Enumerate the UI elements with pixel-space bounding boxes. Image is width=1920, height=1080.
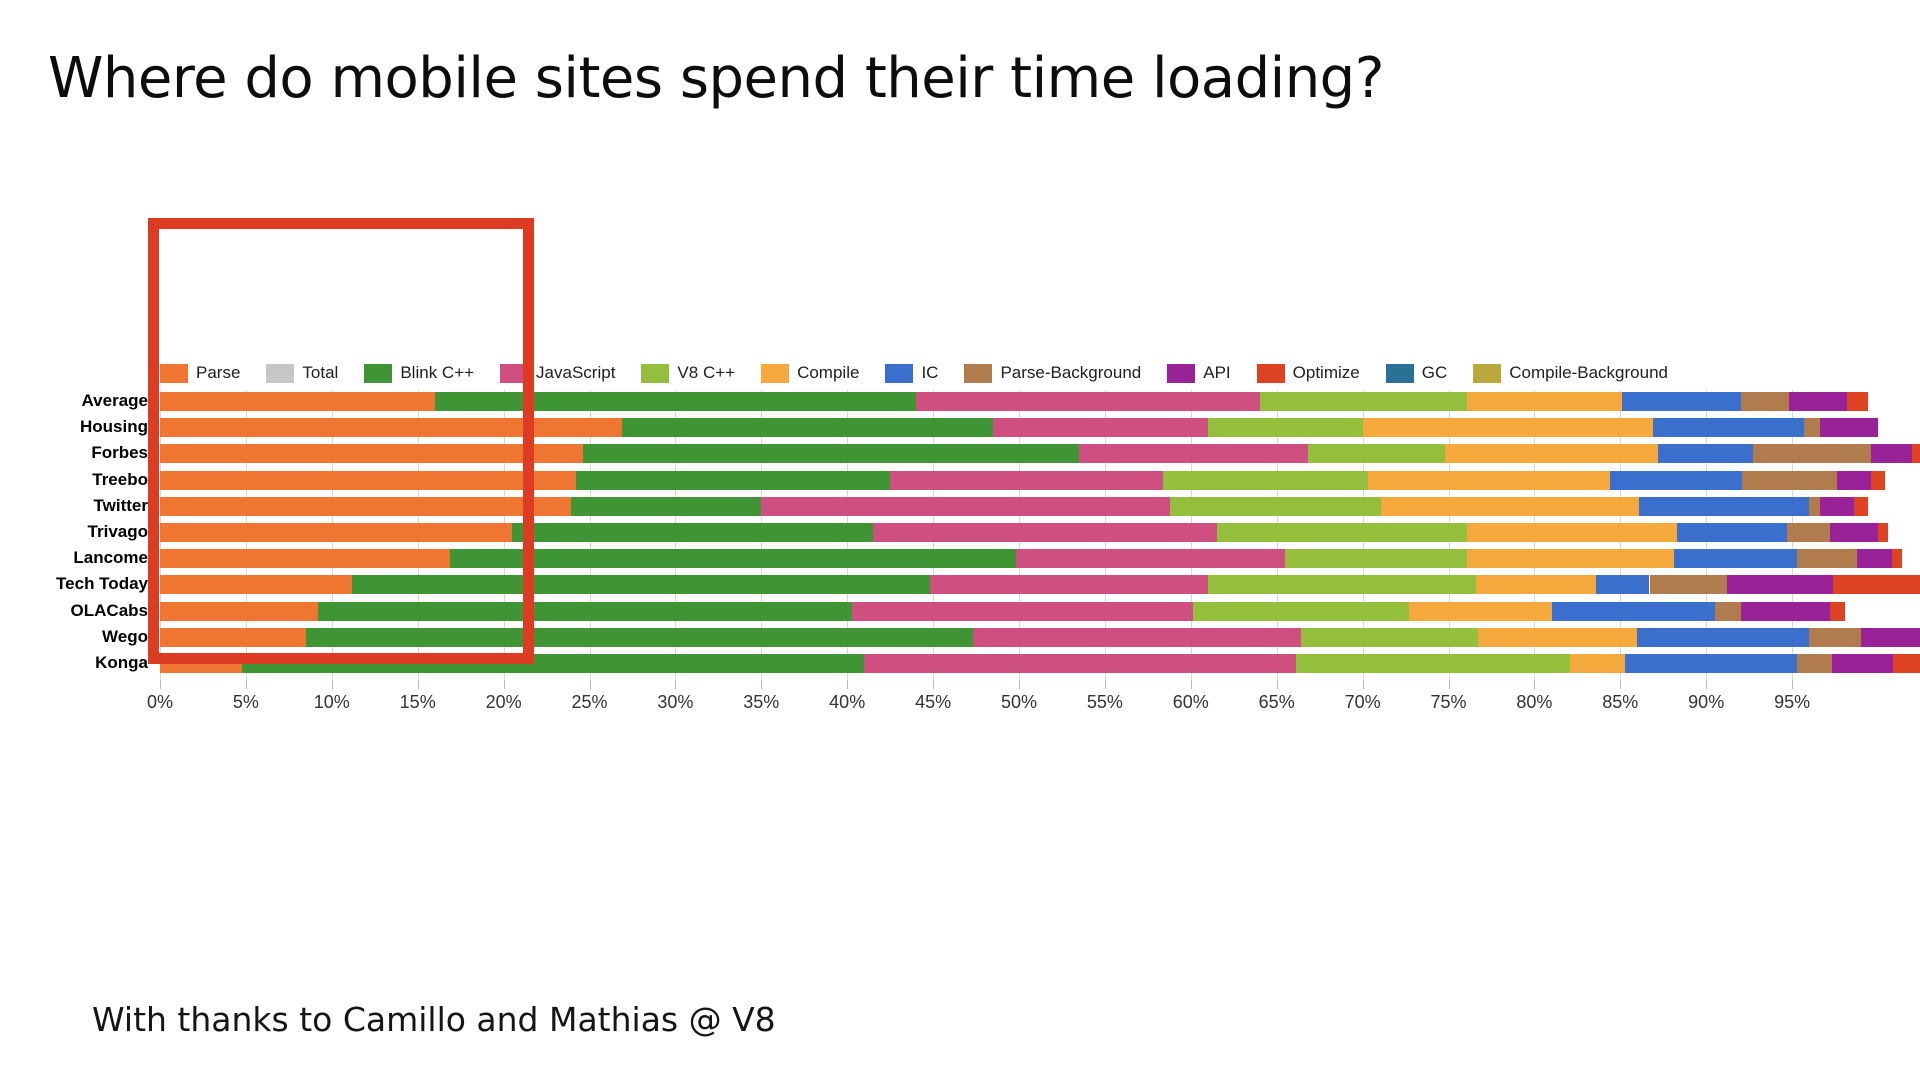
page-title: Where do mobile sites spend their time l… — [48, 46, 1384, 111]
legend-item-parse-background[interactable]: Parse-Background — [964, 363, 1141, 383]
x-axis-tick-label: 70% — [1345, 692, 1381, 713]
legend-label: GC — [1422, 363, 1448, 383]
bar-segment-optimize[interactable] — [1854, 497, 1868, 516]
x-axis-tick-label: 80% — [1516, 692, 1552, 713]
bar-segment-ic[interactable] — [1658, 444, 1752, 463]
bar-segment-parse[interactable] — [160, 392, 435, 411]
legend-item-v8-c-[interactable]: V8 C++ — [641, 363, 735, 383]
bar-segment-parse-background[interactable] — [1741, 392, 1789, 411]
bar-segment-v8-c-[interactable] — [1301, 628, 1478, 647]
bar-segment-compile[interactable] — [1570, 654, 1625, 673]
x-axis-tick — [160, 680, 161, 689]
bar-segment-javascript[interactable] — [993, 418, 1208, 437]
x-axis-tick-label: 20% — [486, 692, 522, 713]
bar-segment-api[interactable] — [1857, 549, 1891, 568]
chart-legend: ParseTotalBlink C++JavaScriptV8 C++Compi… — [160, 360, 1694, 386]
x-axis-tick — [332, 680, 333, 689]
x-axis-tick-label: 40% — [829, 692, 865, 713]
bar-segment-v8-c-[interactable] — [1285, 549, 1467, 568]
y-axis-label-olacabs: OLACabs — [71, 601, 148, 621]
bar-segment-blink-c-[interactable] — [450, 549, 1015, 568]
x-axis-tick — [1534, 680, 1535, 689]
legend-swatch-icon — [364, 364, 392, 383]
bar-segment-api[interactable] — [1830, 523, 1878, 542]
bar-segment-ic[interactable] — [1674, 549, 1798, 568]
y-axis-label-forbes: Forbes — [91, 443, 148, 463]
legend-swatch-icon — [160, 364, 188, 383]
bar-segment-javascript[interactable] — [1016, 549, 1286, 568]
bar-segment-compile[interactable] — [1467, 392, 1622, 411]
legend-item-blink-c-[interactable]: Blink C++ — [364, 363, 474, 383]
bar-segment-javascript[interactable] — [864, 654, 1295, 673]
y-axis-label-treebo: Treebo — [92, 470, 148, 490]
bar-segment-javascript[interactable] — [890, 471, 1163, 490]
bar-row: Wego — [160, 628, 1878, 647]
x-axis-tick — [933, 680, 934, 689]
y-axis-label-tech-today: Tech Today — [56, 574, 148, 594]
bar-segment-compile[interactable] — [1445, 444, 1658, 463]
bar-row: OLACabs — [160, 602, 1878, 621]
bar-segment-parse-background[interactable] — [1797, 654, 1831, 673]
legend-label: Parse-Background — [1000, 363, 1141, 383]
x-axis-tick — [1620, 680, 1621, 689]
bar-segment-ic[interactable] — [1610, 471, 1742, 490]
legend-label: Blink C++ — [400, 363, 474, 383]
bar-segment-javascript[interactable] — [973, 628, 1301, 647]
x-axis-tick — [1019, 680, 1020, 689]
bar-segment-parse[interactable] — [160, 575, 352, 594]
bar-segment-blink-c-[interactable] — [242, 654, 864, 673]
x-axis-tick — [1792, 680, 1793, 689]
y-axis-label-trivago: Trivago — [88, 522, 148, 542]
x-axis-tick — [246, 680, 247, 689]
bar-segment-blink-c-[interactable] — [306, 628, 973, 647]
bar-segment-optimize[interactable] — [1912, 444, 1920, 463]
bar-row: Housing — [160, 418, 1878, 437]
x-axis-tick-label: 90% — [1688, 692, 1724, 713]
bar-segment-api[interactable] — [1741, 602, 1830, 621]
legend-label: JavaScript — [536, 363, 615, 383]
x-axis-tick — [1449, 680, 1450, 689]
bar-segment-ic[interactable] — [1639, 497, 1809, 516]
x-axis-tick-label: 30% — [657, 692, 693, 713]
x-axis-tick-label: 85% — [1602, 692, 1638, 713]
x-axis: 0%5%10%15%20%25%30%35%40%45%50%55%60%65%… — [160, 680, 1878, 720]
x-axis-tick-label: 15% — [400, 692, 436, 713]
plot-area: AverageHousingForbesTreeboTwitterTrivago… — [160, 390, 1878, 680]
bar-segment-optimize[interactable] — [1892, 549, 1902, 568]
bar-segment-parse-background[interactable] — [1804, 418, 1819, 437]
bar-segment-parse-background[interactable] — [1809, 628, 1861, 647]
bar-segment-api[interactable] — [1837, 471, 1871, 490]
bar-segment-api[interactable] — [1871, 444, 1912, 463]
legend-label: Total — [302, 363, 338, 383]
bar-segment-v8-c-[interactable] — [1260, 392, 1468, 411]
bar-segment-parse-background[interactable] — [1742, 471, 1836, 490]
bar-segment-ic[interactable] — [1653, 418, 1804, 437]
bar-segment-blink-c-[interactable] — [435, 392, 916, 411]
bar-segment-api[interactable] — [1832, 654, 1894, 673]
footer-credit: With thanks to Camillo and Mathias @ V8 — [92, 1000, 776, 1039]
bar-segment-parse[interactable] — [160, 471, 576, 490]
bar-segment-compile[interactable] — [1368, 471, 1610, 490]
legend-item-compile[interactable]: Compile — [761, 363, 859, 383]
y-axis-label-average: Average — [82, 391, 148, 411]
legend-item-total[interactable]: Total — [266, 363, 338, 383]
bar-segment-parse-background[interactable] — [1787, 523, 1830, 542]
bar-segment-parse[interactable] — [160, 523, 512, 542]
bar-segment-javascript[interactable] — [761, 497, 1170, 516]
x-axis-tick-label: 10% — [314, 692, 350, 713]
bar-segment-blink-c-[interactable] — [571, 497, 762, 516]
bar-segment-parse-background[interactable] — [1797, 549, 1857, 568]
legend-item-parse[interactable]: Parse — [160, 363, 240, 383]
x-axis-tick-label: 0% — [147, 692, 173, 713]
x-axis-tick — [1363, 680, 1364, 689]
bar-segment-ic[interactable] — [1596, 575, 1649, 594]
bar-segment-v8-c-[interactable] — [1217, 523, 1468, 542]
bar-segment-parse[interactable] — [160, 549, 450, 568]
bar-segment-parse-background[interactable] — [1753, 444, 1872, 463]
bar-segment-parse-background[interactable] — [1809, 497, 1819, 516]
x-axis-tick-label: 65% — [1259, 692, 1295, 713]
legend-swatch-icon — [1473, 364, 1501, 383]
bar-segment-ic[interactable] — [1677, 523, 1787, 542]
bar-segment-compile[interactable] — [1478, 628, 1638, 647]
bar-row: Trivago — [160, 523, 1878, 542]
x-axis-tick — [504, 680, 505, 689]
bar-segment-blink-c-[interactable] — [318, 602, 852, 621]
bar-segment-parse-background[interactable] — [1715, 602, 1741, 621]
x-axis-tick — [675, 680, 676, 689]
bar-row: Lancome — [160, 549, 1878, 568]
x-axis-tick — [761, 680, 762, 689]
bar-segment-api[interactable] — [1861, 628, 1920, 647]
bar-segment-v8-c-[interactable] — [1308, 444, 1445, 463]
bar-segment-parse[interactable] — [160, 602, 318, 621]
x-axis-tick-label: 35% — [743, 692, 779, 713]
bar-segment-optimize[interactable] — [1893, 654, 1920, 673]
bar-segment-compile[interactable] — [1476, 575, 1596, 594]
y-axis-label-lancome: Lancome — [73, 548, 148, 568]
legend-swatch-icon — [1257, 364, 1285, 383]
bar-segment-v8-c-[interactable] — [1163, 471, 1367, 490]
bar-segment-parse[interactable] — [160, 497, 571, 516]
legend-swatch-icon — [885, 364, 913, 383]
bar-row: Average — [160, 392, 1878, 411]
bar-segment-api[interactable] — [1789, 392, 1847, 411]
x-axis-tick-label: 95% — [1774, 692, 1810, 713]
bar-segment-compile[interactable] — [1381, 497, 1639, 516]
bar-row: Konga — [160, 654, 1878, 673]
bar-segment-javascript[interactable] — [1079, 444, 1307, 463]
legend-item-compile-background[interactable]: Compile-Background — [1473, 363, 1668, 383]
bar-segment-optimize[interactable] — [1830, 602, 1845, 621]
bar-segment-ic[interactable] — [1625, 654, 1797, 673]
x-axis-tick-label: 60% — [1173, 692, 1209, 713]
bar-segment-parse[interactable] — [160, 628, 306, 647]
legend-swatch-icon — [641, 364, 669, 383]
legend-swatch-icon — [1167, 364, 1195, 383]
bar-segment-optimize[interactable] — [1878, 523, 1888, 542]
bar-segment-ic[interactable] — [1622, 392, 1741, 411]
legend-label: IC — [921, 363, 938, 383]
bar-segment-blink-c-[interactable] — [352, 575, 929, 594]
legend-item-ic[interactable]: IC — [885, 363, 938, 383]
legend-swatch-icon — [761, 364, 789, 383]
bar-segment-blink-c-[interactable] — [622, 418, 993, 437]
legend-item-javascript[interactable]: JavaScript — [500, 363, 615, 383]
stacked-bar-chart: ParseTotalBlink C++JavaScriptV8 C++Compi… — [0, 255, 1920, 795]
x-axis-tick — [1105, 680, 1106, 689]
bar-segment-v8-c-[interactable] — [1208, 418, 1363, 437]
bar-segment-api[interactable] — [1820, 497, 1854, 516]
bar-segment-parse[interactable] — [160, 654, 242, 673]
x-axis-tick — [1191, 680, 1192, 689]
bar-segment-v8-c-[interactable] — [1193, 602, 1409, 621]
bar-segment-javascript[interactable] — [916, 392, 1260, 411]
legend-label: Parse — [196, 363, 240, 383]
bar-segment-blink-c-[interactable] — [583, 444, 1080, 463]
legend-label: Compile — [797, 363, 859, 383]
bar-segment-optimize[interactable] — [1833, 575, 1920, 594]
bar-segment-v8-c-[interactable] — [1296, 654, 1571, 673]
bar-segment-compile[interactable] — [1409, 602, 1552, 621]
x-axis-tick-label: 45% — [915, 692, 951, 713]
legend-item-api[interactable]: API — [1167, 363, 1230, 383]
x-axis-tick-label: 75% — [1430, 692, 1466, 713]
bar-segment-ic[interactable] — [1552, 602, 1715, 621]
legend-label: V8 C++ — [677, 363, 735, 383]
x-axis-tick-label: 5% — [233, 692, 259, 713]
bar-row: Tech Today — [160, 575, 1878, 594]
bar-segment-parse[interactable] — [160, 444, 583, 463]
bar-segment-api[interactable] — [1727, 575, 1834, 594]
y-axis-label-konga: Konga — [95, 653, 148, 673]
legend-swatch-icon — [266, 364, 294, 383]
bar-segment-compile[interactable] — [1467, 523, 1677, 542]
bar-segment-v8-c-[interactable] — [1170, 497, 1381, 516]
legend-label: Optimize — [1293, 363, 1360, 383]
bar-segment-v8-c-[interactable] — [1208, 575, 1476, 594]
legend-item-gc[interactable]: GC — [1386, 363, 1448, 383]
bar-segment-javascript[interactable] — [930, 575, 1208, 594]
bar-segment-javascript[interactable] — [852, 602, 1192, 621]
bar-segment-compile[interactable] — [1467, 549, 1673, 568]
x-axis-tick — [847, 680, 848, 689]
legend-swatch-icon — [500, 364, 528, 383]
x-axis-tick — [590, 680, 591, 689]
bar-segment-ic[interactable] — [1637, 628, 1809, 647]
x-axis-tick — [1277, 680, 1278, 689]
bar-row: Twitter — [160, 497, 1878, 516]
bar-segment-optimize[interactable] — [1871, 471, 1885, 490]
bar-segment-blink-c-[interactable] — [576, 471, 890, 490]
bar-segment-api[interactable] — [1820, 418, 1878, 437]
legend-item-optimize[interactable]: Optimize — [1257, 363, 1360, 383]
y-axis-label-twitter: Twitter — [94, 496, 148, 516]
bar-segment-parse[interactable] — [160, 418, 622, 437]
bar-segment-blink-c-[interactable] — [512, 523, 873, 542]
x-axis-tick-label: 25% — [571, 692, 607, 713]
legend-label: Compile-Background — [1509, 363, 1668, 383]
bar-segment-optimize[interactable] — [1847, 392, 1868, 411]
legend-swatch-icon — [964, 364, 992, 383]
x-axis-tick-label: 55% — [1087, 692, 1123, 713]
x-axis-tick-label: 50% — [1001, 692, 1037, 713]
bar-row: Treebo — [160, 471, 1878, 490]
x-axis-tick — [418, 680, 419, 689]
x-axis-tick — [1706, 680, 1707, 689]
y-axis-label-wego: Wego — [102, 627, 148, 647]
legend-swatch-icon — [1386, 364, 1414, 383]
legend-label: API — [1203, 363, 1230, 383]
bar-segment-parse-background[interactable] — [1650, 575, 1727, 594]
y-axis-label-housing: Housing — [80, 417, 148, 437]
bar-segment-compile[interactable] — [1363, 418, 1653, 437]
bar-row: Forbes — [160, 444, 1878, 463]
bar-segment-javascript[interactable] — [873, 523, 1217, 542]
